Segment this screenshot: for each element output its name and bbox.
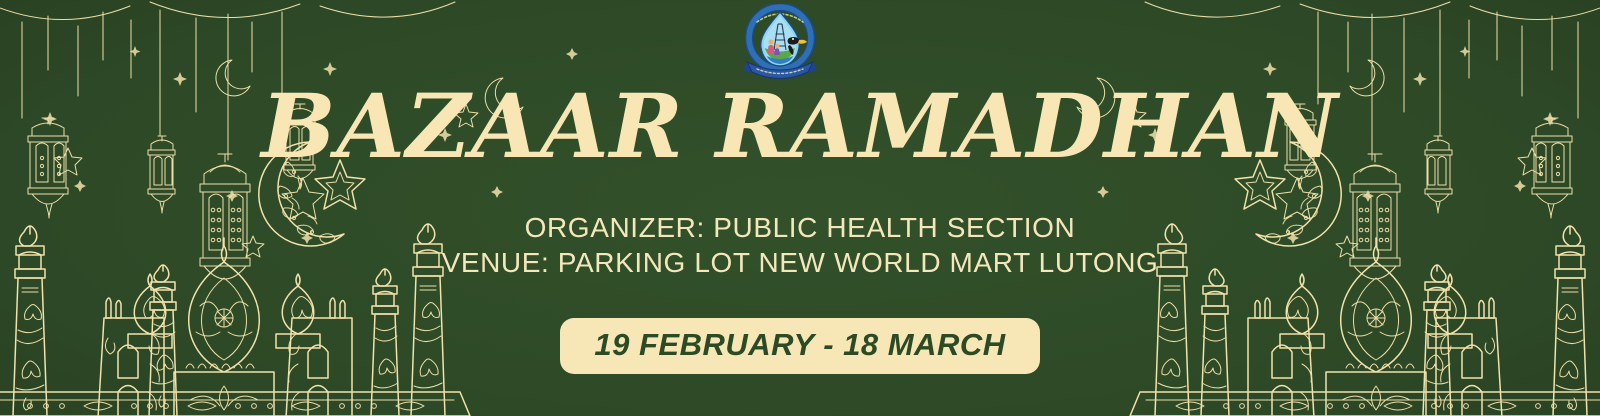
page-title: BAZAAR RAMADHAN bbox=[0, 82, 1600, 170]
organizer-line: ORGANIZER: PUBLIC HEALTH SECTION bbox=[0, 210, 1600, 245]
ramadan-bazaar-banner: BAZAAR RAMADHAN ORGANIZER: PUBLIC HEALTH… bbox=[0, 0, 1600, 416]
council-emblem-logo bbox=[737, 4, 823, 80]
date-badge-container: 19 FEBRUARY - 18 MARCH bbox=[0, 318, 1600, 374]
venue-line: VENUE: PARKING LOT NEW WORLD MART LUTONG bbox=[0, 245, 1600, 280]
event-details: ORGANIZER: PUBLIC HEALTH SECTION VENUE: … bbox=[0, 210, 1600, 280]
date-range-badge: 19 FEBRUARY - 18 MARCH bbox=[560, 318, 1039, 374]
